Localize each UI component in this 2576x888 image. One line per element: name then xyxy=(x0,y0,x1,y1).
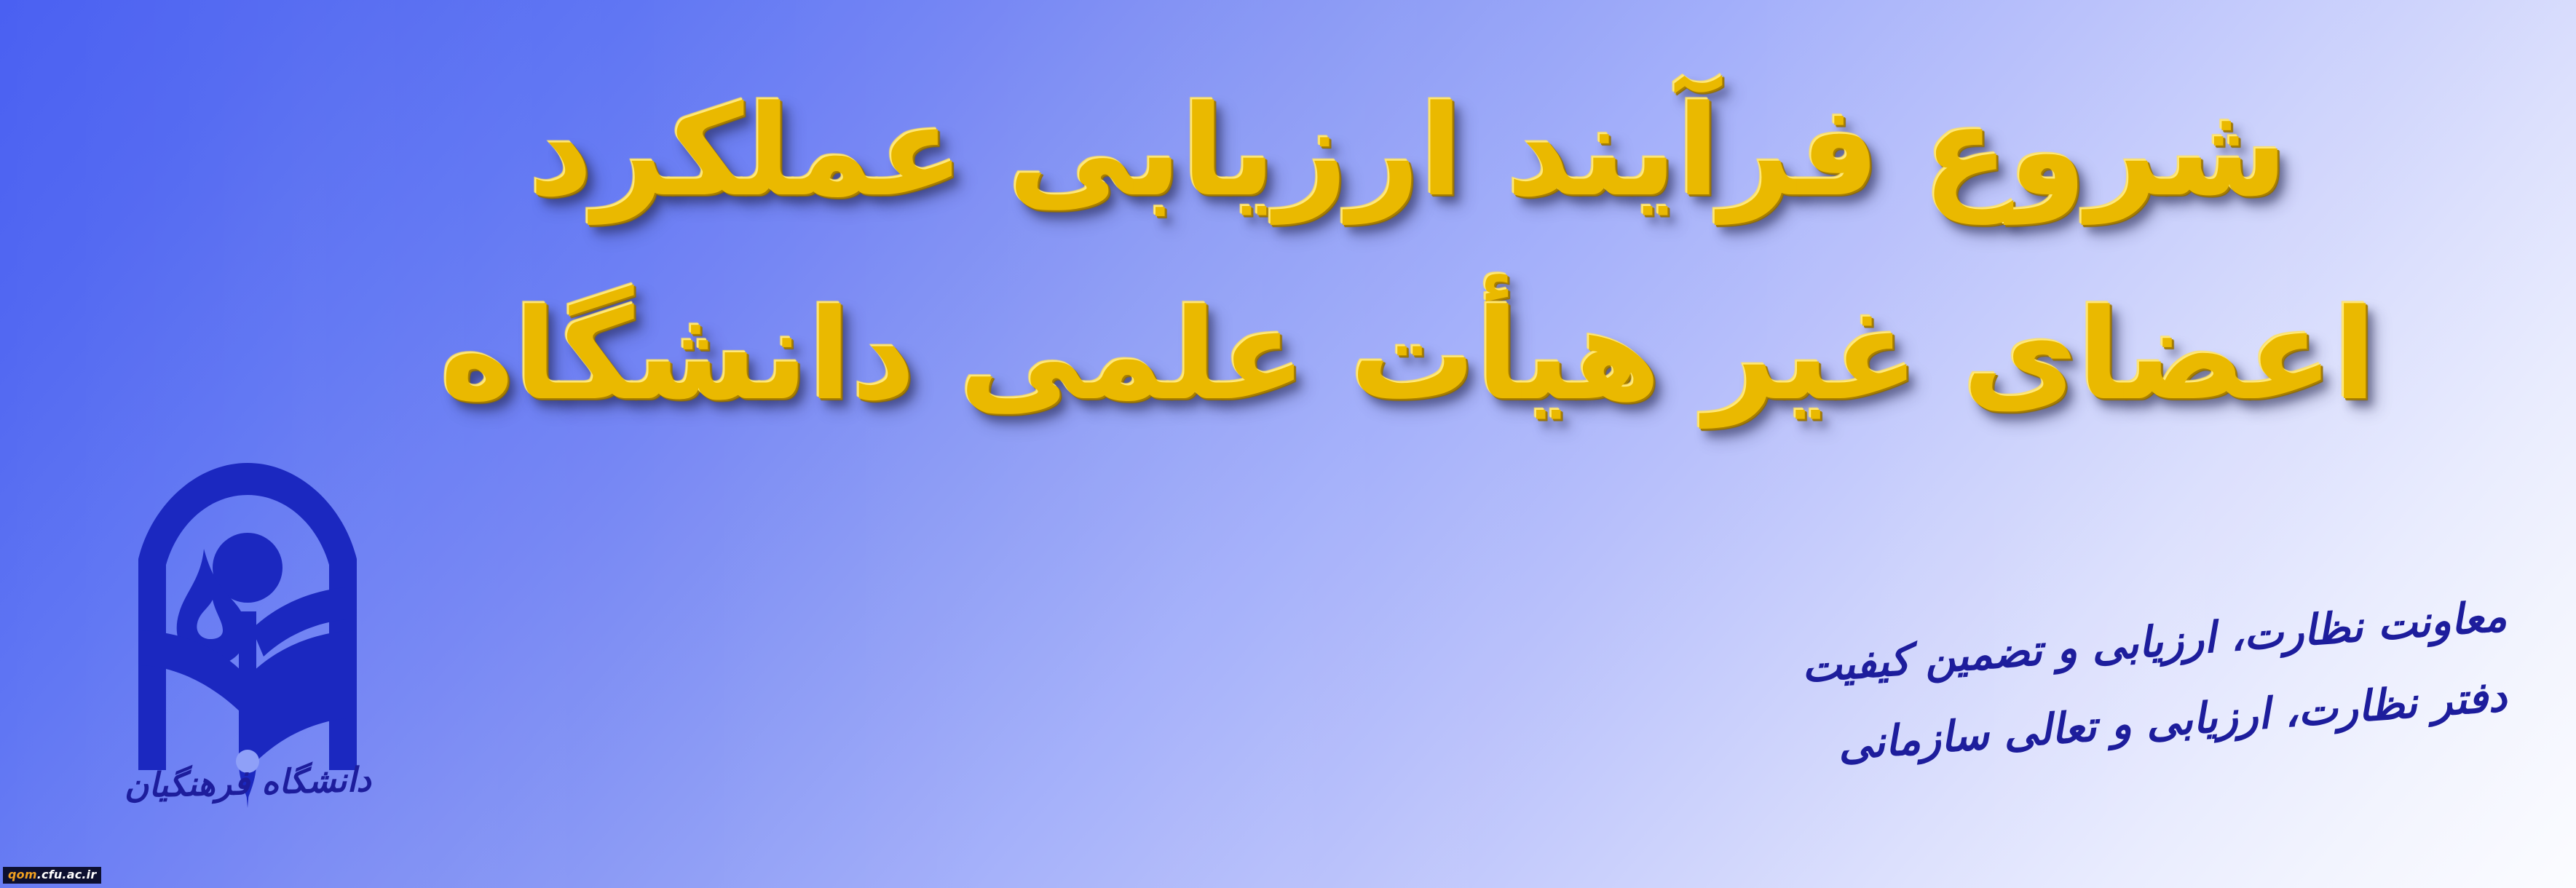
announcement-banner: شروع فرآیند ارزیابی عملکرد اعضای غیر هیأ… xyxy=(0,0,2576,888)
subtitle-line-2: دفتر نظارت، ارزیابی و تعالی سازمانی xyxy=(1836,671,2508,769)
headline-line-2: اعضای غیر هیأت علمی دانشگاه xyxy=(0,290,2576,421)
watermark-accent: qom xyxy=(8,868,37,881)
logo-caption: دانشگاه فرهنگیان xyxy=(108,759,386,806)
subtitle-line-1: معاونت نظارت، ارزیابی و تضمین کیفیت xyxy=(1800,591,2508,692)
watermark-domain: cfu.ac.ir xyxy=(42,868,96,881)
site-watermark: qom.cfu.ac.ir xyxy=(3,867,101,884)
headline-line-1: شروع فرآیند ارزیابی عملکرد xyxy=(0,86,2576,218)
